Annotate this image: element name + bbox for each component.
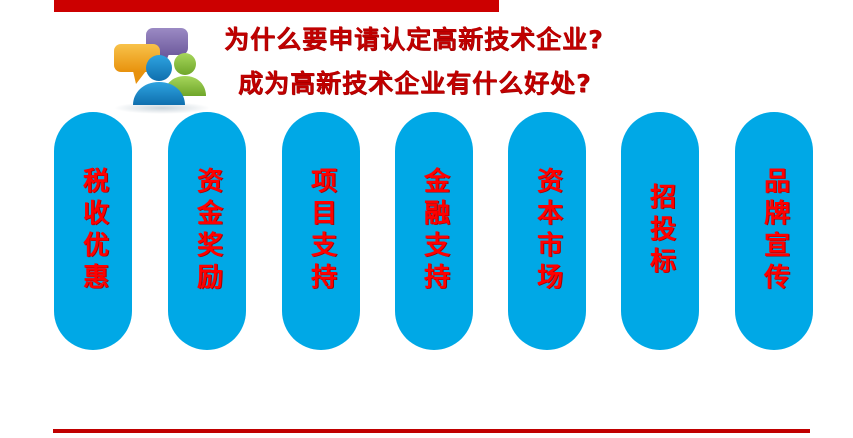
benefit-funding-label: 资金奖励: [191, 167, 224, 295]
benefit-finance-label: 金融支持: [418, 167, 451, 295]
header-question-line-1: 为什么要申请认定高新技术企业?: [212, 18, 792, 62]
benefit-capital-market-label: 资本市场: [531, 167, 564, 295]
bottom-accent-rule: [53, 429, 810, 433]
benefit-project-label: 项目支持: [305, 167, 338, 295]
benefit-tax-label: 税收优惠: [77, 167, 110, 295]
benefit-tax[interactable]: 税收优惠: [54, 112, 132, 350]
discussion-group-icon: [105, 24, 220, 114]
benefits-pill-row: 税收优惠 资金奖励 项目支持 金融支持 资本市场 招投标 品牌宣传: [54, 112, 820, 352]
benefit-capital-market[interactable]: 资本市场: [508, 112, 586, 350]
header-question-line-2: 成为高新技术企业有什么好处?: [212, 62, 792, 106]
benefit-bidding-label: 招投标: [644, 183, 677, 279]
benefit-bidding[interactable]: 招投标: [621, 112, 699, 350]
benefit-branding-label: 品牌宣传: [758, 167, 791, 295]
benefit-finance[interactable]: 金融支持: [395, 112, 473, 350]
benefit-branding[interactable]: 品牌宣传: [735, 112, 813, 350]
slide-canvas: 为什么要申请认定高新技术企业? 成为高新技术企业有什么好处? 税收优惠 资金奖励…: [0, 0, 853, 438]
benefit-funding[interactable]: 资金奖励: [168, 112, 246, 350]
benefit-project[interactable]: 项目支持: [282, 112, 360, 350]
top-accent-bar: [54, 0, 499, 12]
header-block: 为什么要申请认定高新技术企业? 成为高新技术企业有什么好处?: [100, 18, 800, 108]
header-question-group: 为什么要申请认定高新技术企业? 成为高新技术企业有什么好处?: [212, 18, 792, 108]
